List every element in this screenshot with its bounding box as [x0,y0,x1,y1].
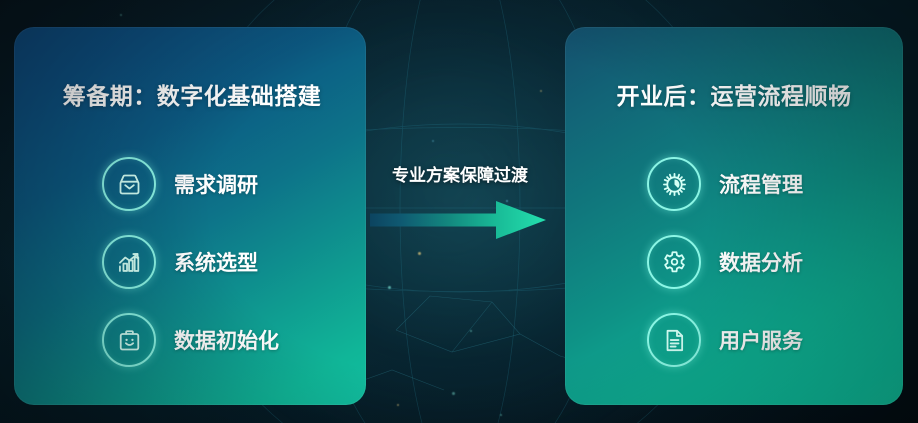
preparation-phase-title: 筹备期：数字化基础搭建 [14,77,366,111]
list-item[interactable]: 数据分析 [565,223,903,301]
list-item[interactable]: 数据初始化 [14,301,366,379]
document-lines-icon [647,313,701,367]
gear-pie-icon [647,157,701,211]
list-item[interactable]: 需求调研 [14,145,366,223]
list-item[interactable]: 用户服务 [565,301,903,379]
preparation-phase-item-list: 需求调研 系统选型 [14,145,366,379]
list-item[interactable]: 系统选型 [14,223,366,301]
preparation-phase-card[interactable]: 筹备期：数字化基础搭建 需求调研 [14,27,366,405]
bar-chart-growth-icon [102,235,156,289]
list-item-label: 系统选型 [174,247,258,277]
list-item[interactable]: 流程管理 [565,145,903,223]
right-arrow-icon [368,198,548,242]
post-opening-item-list: 流程管理 数据分析 [565,145,903,379]
list-item-label: 用户服务 [719,325,803,355]
cog-settings-icon [647,235,701,289]
briefcase-smile-icon [102,313,156,367]
list-item-label: 数据分析 [719,247,803,277]
post-opening-card[interactable]: 开业后：运营流程顺畅 [565,27,903,405]
list-item-label: 需求调研 [174,169,258,199]
list-item-label: 流程管理 [719,169,803,199]
inbox-archive-icon [102,157,156,211]
list-item-label: 数据初始化 [174,325,279,355]
post-opening-title: 开业后：运营流程顺畅 [565,77,903,111]
slide-canvas: 筹备期：数字化基础搭建 需求调研 [0,0,918,423]
transition-caption: 专业方案保障过渡 [372,161,548,186]
